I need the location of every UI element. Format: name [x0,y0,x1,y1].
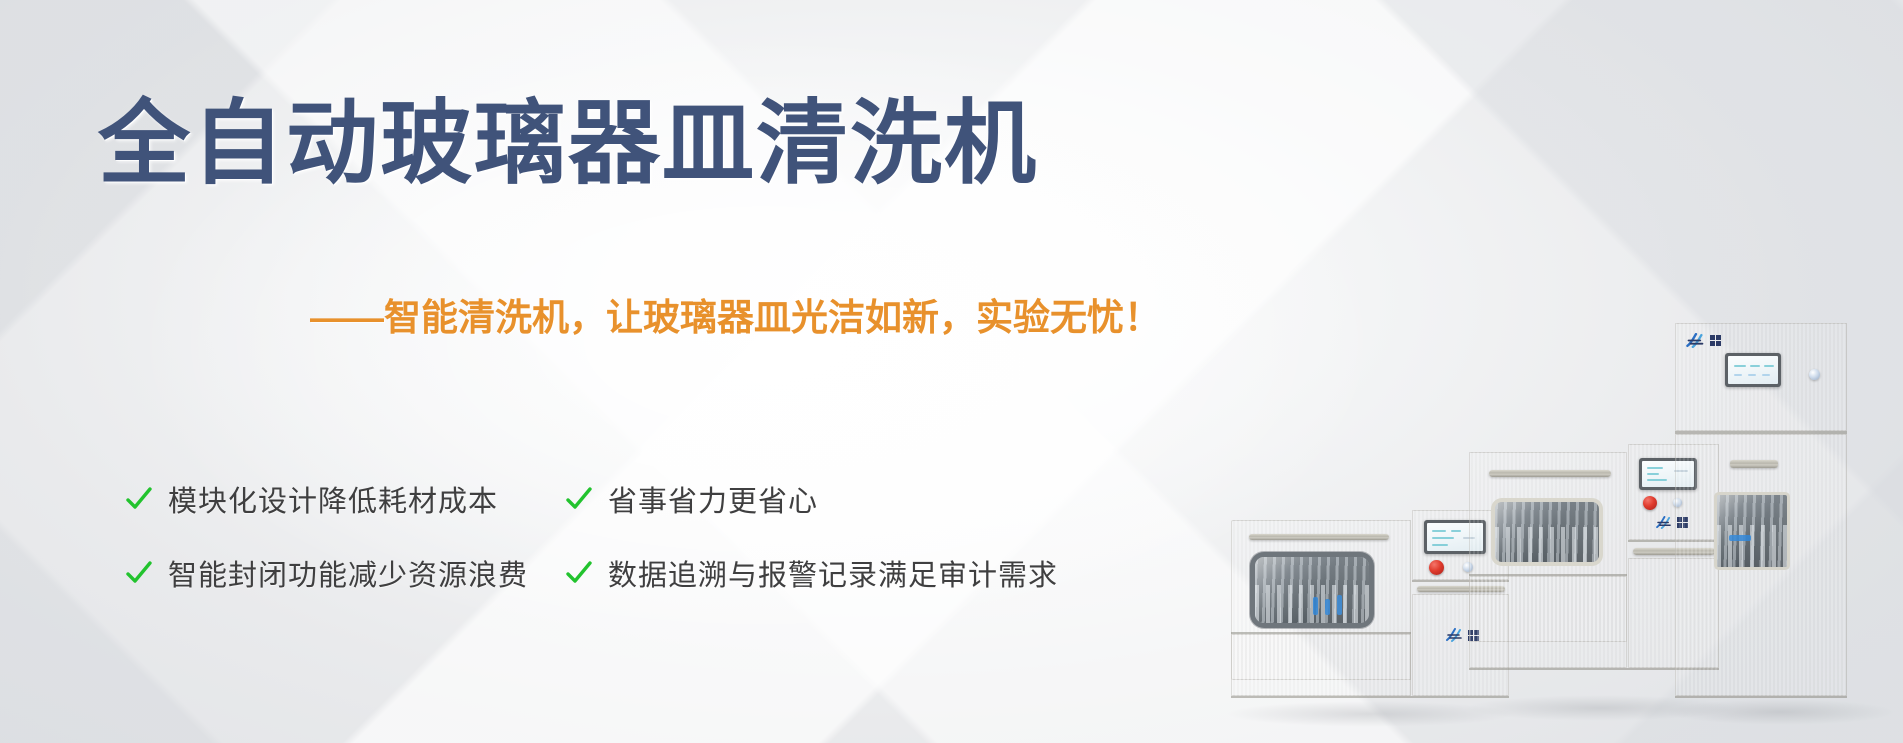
list-item: 智能封闭功能减少资源浪费 [124,552,564,594]
feature-row: 模块化设计降低耗材成本 省事省力更省心 [124,462,1124,536]
product-image-tall-column-glassware-washer [1675,323,1847,713]
page-title: 全自动玻璃器皿清洗机 [98,96,1038,193]
emergency-stop-button[interactable] [1429,560,1444,575]
door-handle[interactable] [1730,460,1778,468]
list-item: 模块化设计降低耗材成本 [124,478,564,520]
feature-label: 数据追溯与报警记录满足审计需求 [608,552,1058,594]
door-handle[interactable] [1249,534,1389,540]
check-icon [124,558,154,588]
check-icon [124,484,154,514]
banner-text-content: 全自动玻璃器皿清洗机 ——智能清洗机，让玻璃器皿光洁如新，实验无忧！ 模块化设计… [0,0,1160,743]
window-glass-reflection [1495,502,1599,562]
caster-wheel [1647,668,1667,690]
viewing-window [1255,557,1369,623]
huayi-logo-mark [1655,516,1674,529]
list-item: 省事省力更省心 [564,478,1084,520]
caster-wheel [1485,668,1505,690]
touchscreen-display[interactable] [1725,353,1781,387]
banner-subtitle: ——智能清洗机，让玻璃器皿光洁如新，实验无忧！ [310,287,1161,341]
check-icon [564,558,594,588]
window-glass-reflection [1255,557,1369,623]
huayi-logo-mark [1445,628,1465,642]
feature-label: 模块化设计降低耗材成本 [168,478,498,520]
check-icon [564,484,594,514]
caster-wheel [1815,696,1835,718]
product-image-undercounter-glassware-washer [1231,510,1509,715]
brand-logo [1685,333,1721,348]
caster-wheel [1687,696,1707,718]
viewing-window [1495,502,1599,562]
emergency-stop-button[interactable] [1643,496,1657,510]
huayi-logo-mark [1685,333,1707,348]
feature-list: 模块化设计降低耗材成本 省事省力更省心 智能封闭功能减少资源浪费 [124,462,1124,610]
caster-wheel [1427,696,1447,718]
product-image-group [1113,0,1903,743]
caster-wheel [1257,696,1277,718]
list-item: 数据追溯与报警记录满足审计需求 [564,552,1084,594]
feature-label: 智能封闭功能减少资源浪费 [168,552,528,594]
door-handle[interactable] [1489,470,1611,477]
feature-label: 省事省力更省心 [608,478,818,520]
feature-row: 智能封闭功能减少资源浪费 数据追溯与报警记录满足审计需求 [124,536,1124,610]
screen-content [1728,356,1778,384]
product-banner: 全自动玻璃器皿清洗机 ——智能清洗机，让玻璃器皿光洁如新，实验无忧！ 模块化设计… [0,0,1903,743]
indicator-button[interactable] [1809,369,1820,380]
viewing-window [1717,495,1787,567]
brand-name-text [1710,335,1721,346]
window-glass-reflection [1717,495,1787,567]
